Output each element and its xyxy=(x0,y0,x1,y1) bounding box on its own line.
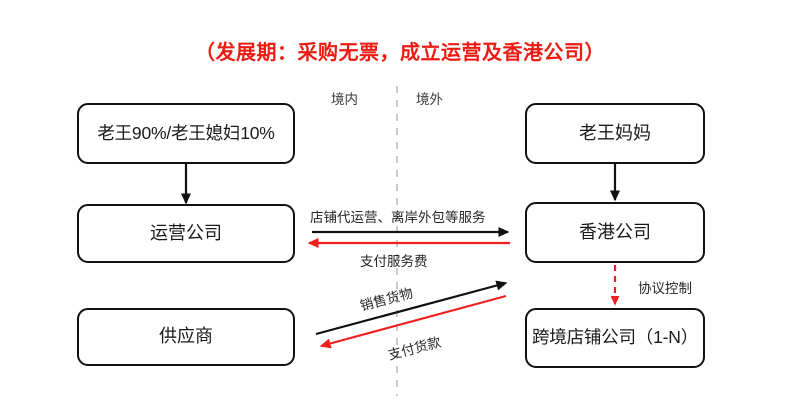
zone-label-offshore: 境外 xyxy=(416,88,443,108)
node-owner[interactable]: 老王90%/老王媳妇10% xyxy=(77,103,295,164)
edge-label-goods-payment: 支付货款 xyxy=(385,331,442,364)
edge-label-goods-sale: 销售货物 xyxy=(357,282,414,315)
edge-label-service-forward: 店铺代运营、离岸外包等服务 xyxy=(310,206,486,226)
node-hk-company[interactable]: 香港公司 xyxy=(525,202,705,263)
node-supplier[interactable]: 供应商 xyxy=(77,308,295,366)
zone-label-domestic: 境内 xyxy=(331,88,358,108)
edge-label-service-payment: 支付服务费 xyxy=(360,250,428,270)
page-title: （发展期：采购无票，成立运营及香港公司） xyxy=(0,36,800,65)
node-cross-border-shops[interactable]: 跨境店铺公司（1-N） xyxy=(525,308,705,368)
node-mother[interactable]: 老王妈妈 xyxy=(525,103,705,164)
edge-label-agreement-control: 协议控制 xyxy=(638,277,692,297)
node-operating-company[interactable]: 运营公司 xyxy=(77,204,295,263)
diagram-canvas: （发展期：采购无票，成立运营及香港公司） 境 xyxy=(0,0,800,414)
